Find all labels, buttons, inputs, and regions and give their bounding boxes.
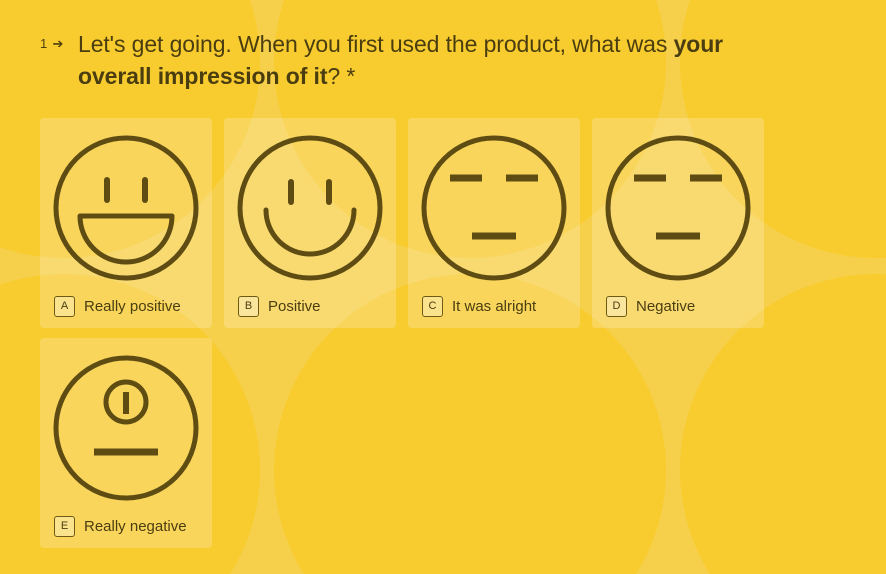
option-card-d[interactable]: D Negative	[592, 118, 764, 328]
face-big-smile-icon	[50, 132, 202, 284]
option-card-a[interactable]: A Really positive	[40, 118, 212, 328]
face-smile-icon	[234, 132, 386, 284]
option-key-b: B	[238, 296, 259, 317]
survey-page: 1 ➔ Let's get going. When you first used…	[0, 0, 886, 574]
option-label-row-d: D Negative	[602, 284, 754, 328]
answer-options-list: A Really positive B Positive	[40, 118, 770, 548]
option-card-b[interactable]: B Positive	[224, 118, 396, 328]
face-negative-icon	[602, 132, 754, 284]
option-key-a: A	[54, 296, 75, 317]
option-key-c: C	[422, 296, 443, 317]
option-label-row-e: E Really negative	[50, 504, 202, 548]
option-key-d: D	[606, 296, 627, 317]
arrow-right-icon: ➔	[52, 37, 63, 50]
face-neutral-icon	[418, 132, 570, 284]
option-key-e: E	[54, 516, 75, 537]
face-really-negative-icon	[50, 352, 202, 504]
question-title: Let's get going. When you first used the…	[78, 28, 778, 92]
question-number-group: 1 ➔	[40, 28, 78, 50]
option-label-b: Positive	[268, 299, 321, 314]
option-label-d: Negative	[636, 299, 695, 314]
question-number: 1	[40, 37, 47, 50]
option-label-e: Really negative	[84, 519, 187, 534]
option-label-row-c: C It was alright	[418, 284, 570, 328]
question-text-lead: Let's get going. When you first used the…	[78, 31, 674, 57]
question-block: 1 ➔ Let's get going. When you first used…	[40, 28, 842, 92]
option-label-a: Really positive	[84, 299, 181, 314]
option-label-row-b: B Positive	[234, 284, 386, 328]
option-label-c: It was alright	[452, 299, 536, 314]
option-card-e[interactable]: E Really negative	[40, 338, 212, 548]
question-text-tail: ? *	[327, 63, 355, 89]
option-card-c[interactable]: C It was alright	[408, 118, 580, 328]
option-label-row-a: A Really positive	[50, 284, 202, 328]
